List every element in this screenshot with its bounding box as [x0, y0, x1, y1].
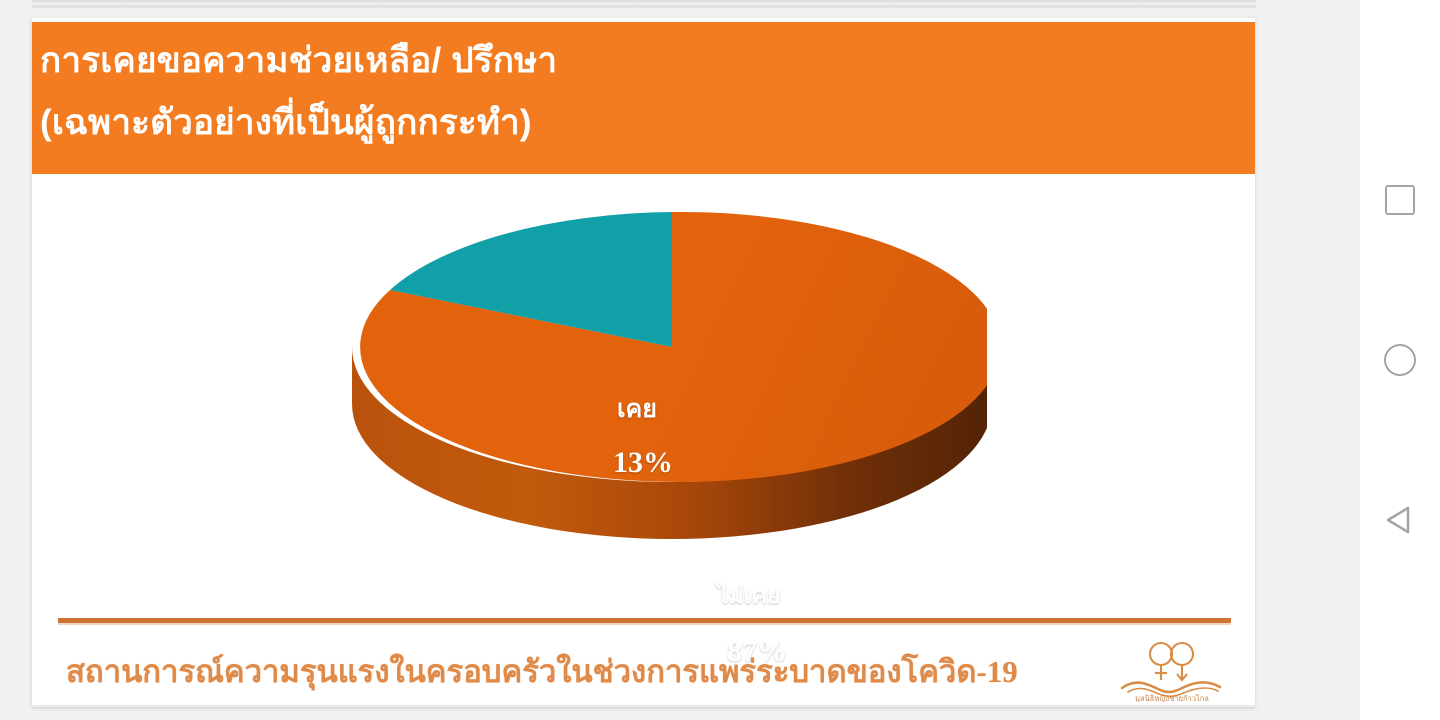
nav-home-button[interactable] [1360, 330, 1440, 390]
slide-title-banner: การเคยขอความช่วยเหลือ/ ปรึกษา (เฉพาะตัวอ… [32, 22, 1255, 174]
screen: การเคยขอความช่วยเหลือ/ ปรึกษา (เฉพาะตัวอ… [0, 0, 1440, 720]
previous-slide-shadow [32, 5, 1256, 8]
pie-chart-graphic [287, 192, 987, 592]
logo-caption: มูลนิธิหญิงชายก้าวไกล [1135, 694, 1209, 702]
footer-divider-glow [58, 623, 1231, 625]
slide-bottom-shadow [32, 705, 1255, 709]
android-navigation-bar [1360, 0, 1440, 720]
footer-title: สถานการณ์ความรุนแรงในครอบครัวในช่วงการแพ… [66, 646, 1096, 696]
slide-title-line-1: การเคยขอความช่วยเหลือ/ ปรึกษา [40, 30, 1255, 92]
slide-card[interactable]: การเคยขอความช่วยเหลือ/ ปรึกษา (เฉพาะตัวอ… [32, 18, 1255, 707]
slide-title-line-2: (เฉพาะตัวอย่างที่เป็นผู้ถูกกระทำ) [40, 92, 1255, 154]
nav-recents-button[interactable] [1360, 170, 1440, 230]
pie-chart-svg [287, 192, 987, 592]
nav-back-button[interactable] [1360, 490, 1440, 550]
pie-chart: เคย 13% ไม่เคย 87% [32, 174, 1255, 604]
organization-logo: มูลนิธิหญิงชายก้าวไกล [1114, 640, 1234, 702]
circle-icon [1384, 344, 1416, 376]
square-icon [1385, 185, 1415, 215]
gender-symbols-logo-icon: มูลนิธิหญิงชายก้าวไกล [1114, 640, 1234, 702]
triangle-back-icon [1383, 503, 1417, 537]
